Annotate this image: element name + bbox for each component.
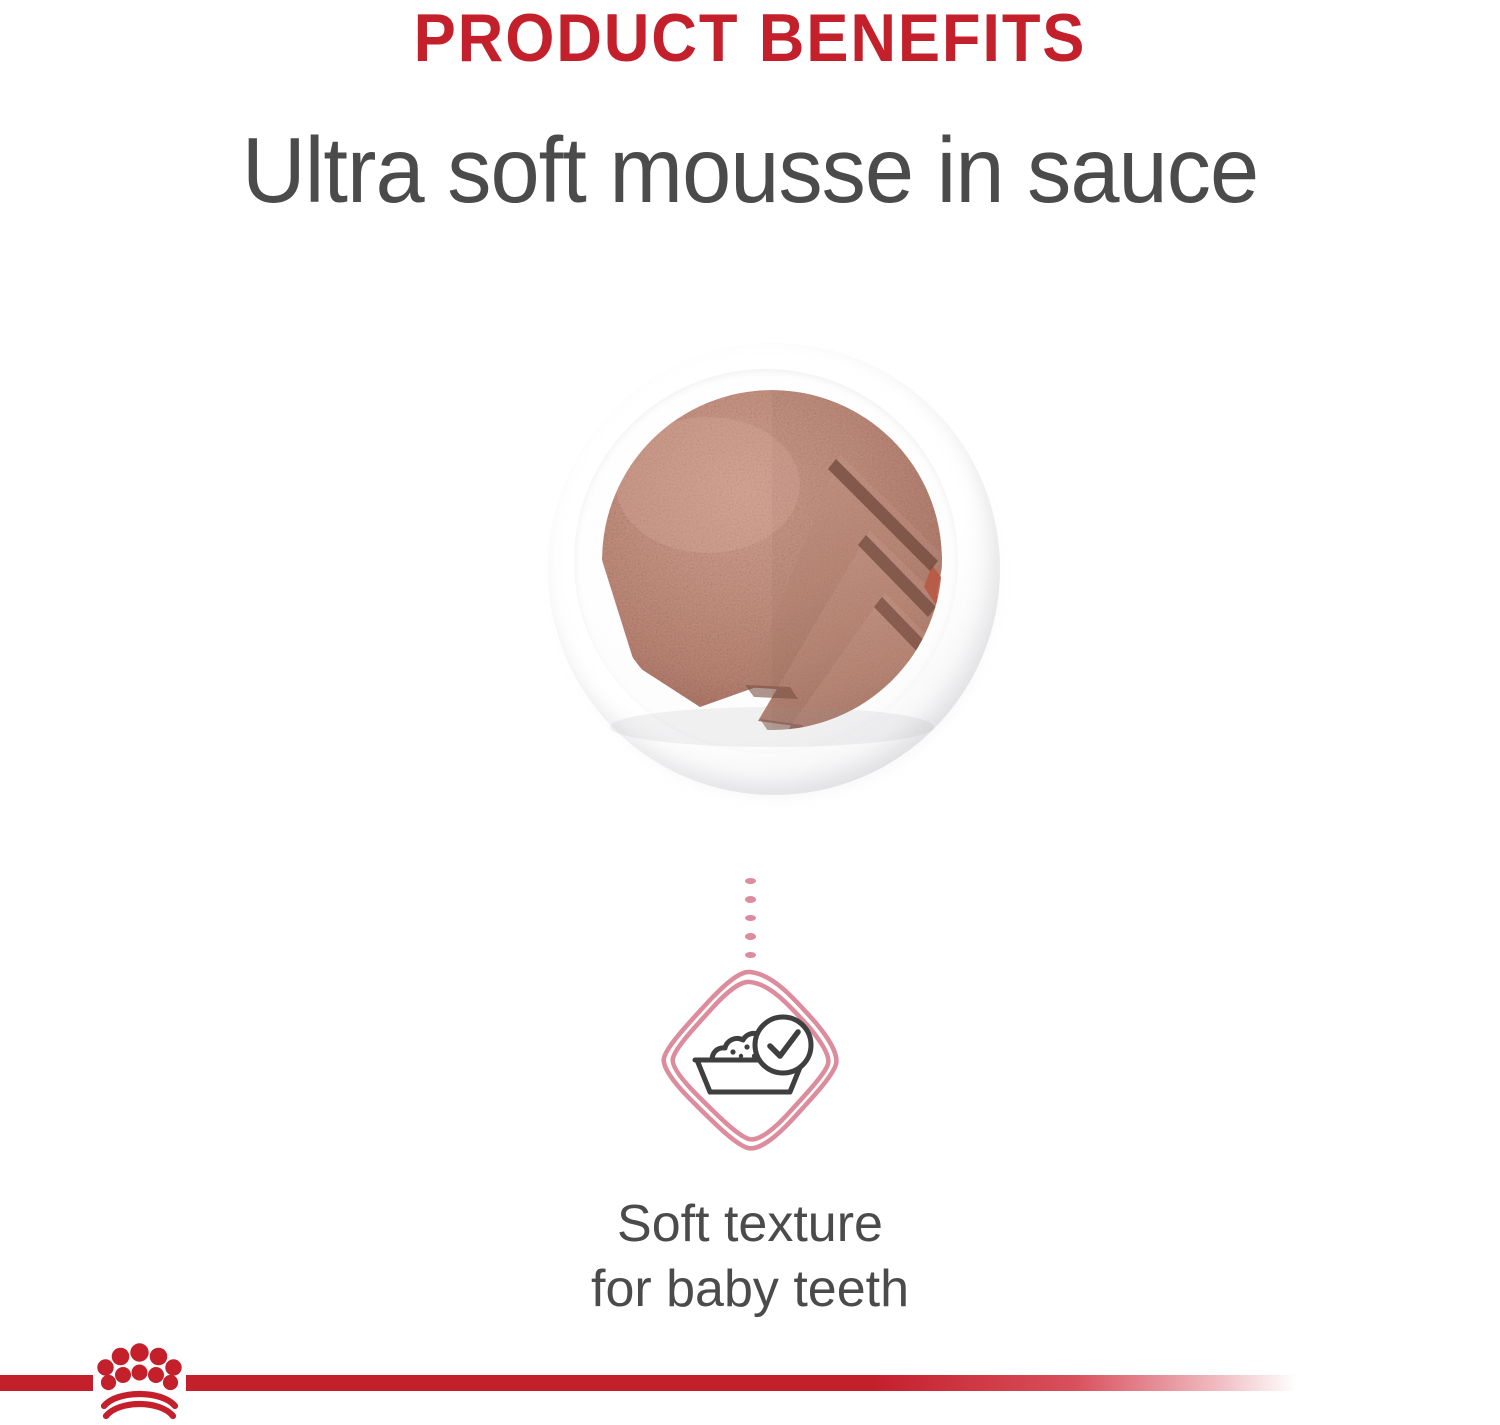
connector-dot [745,896,756,902]
benefit-caption-line-1: Soft texture [0,1192,1500,1257]
product-subtitle: Ultra soft mousse in sauce [38,72,1463,217]
mousse-illustration [540,335,1010,805]
benefit-caption: Soft texture for baby teeth [0,1192,1500,1322]
connector-dot [745,933,756,939]
royal-canin-crown-logo [93,1340,186,1425]
product-photo [540,335,1010,805]
connector-dot [745,915,756,921]
page-title: PRODUCT BENEFITS [53,0,1448,72]
food-bowl-check-icon [650,960,850,1160]
footer-brand-bar [0,1340,1500,1425]
benefit-caption-line-2: for baby teeth [0,1257,1500,1322]
benefit-badge [0,960,1500,1160]
connector-dot [745,952,756,958]
brand-bar-right [186,1375,1296,1391]
connector-dot [745,878,756,884]
brand-bar-left [0,1375,93,1391]
header-block: PRODUCT BENEFITS Ultra soft mousse in sa… [0,0,1500,217]
dotted-connector [0,878,1500,958]
